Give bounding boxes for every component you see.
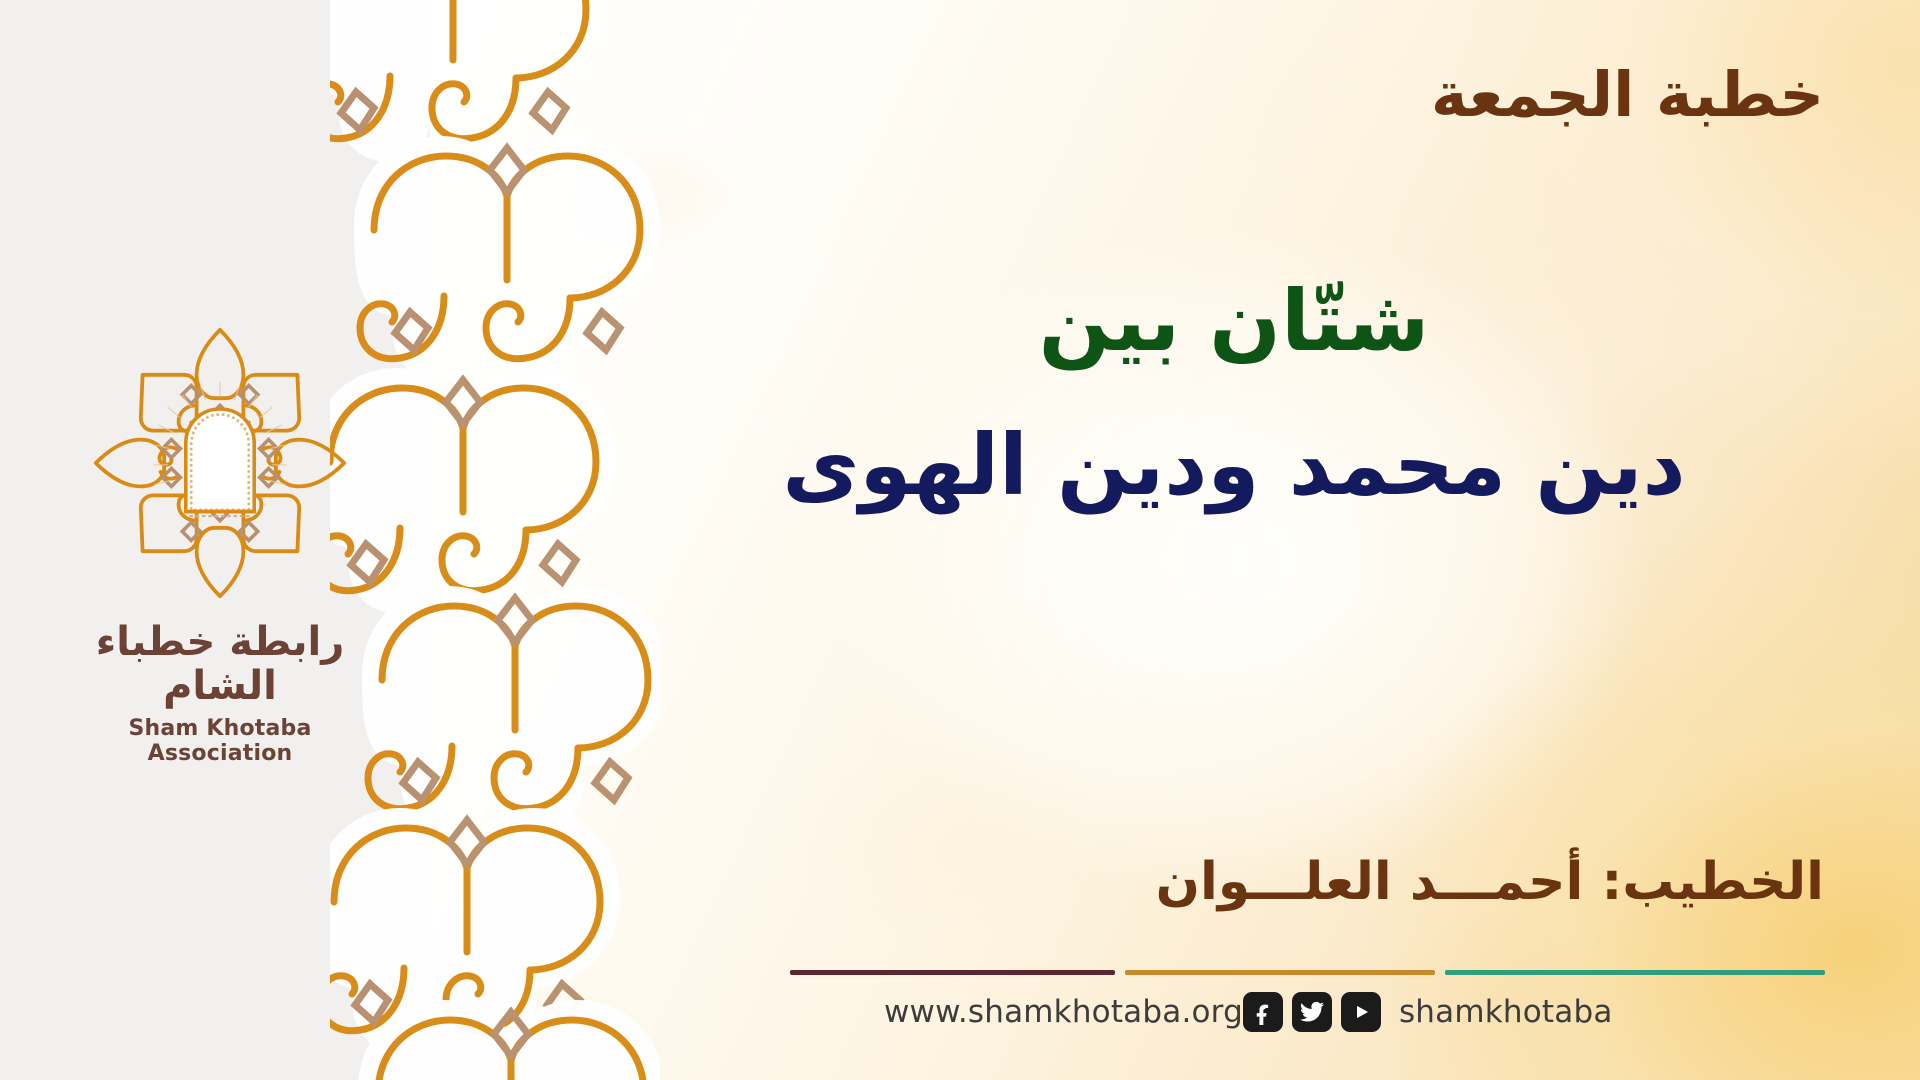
rule-gold — [1125, 970, 1435, 975]
arabesque-mihrab-star-icon — [85, 318, 355, 608]
rule-teal — [1445, 970, 1825, 975]
footer: www.shamkhotaba.org shamkhotaba — [790, 970, 1920, 1080]
page-title: شتّان بين دين محمد ودين الهوى — [644, 268, 1824, 519]
facebook-icon[interactable] — [1243, 992, 1283, 1032]
social-icon-group — [1243, 992, 1381, 1032]
footer-content: www.shamkhotaba.org shamkhotaba — [790, 992, 1613, 1032]
youtube-icon[interactable] — [1341, 992, 1381, 1032]
footer-rule-group — [790, 970, 1825, 975]
speaker-label: الخطيب: أحمـــد العلـــوان — [1156, 852, 1824, 912]
social-handle[interactable]: shamkhotaba — [1399, 994, 1613, 1030]
website-link[interactable]: www.shamkhotaba.org — [884, 994, 1243, 1030]
logo-block: رابطة خطباء الشام Sham Khotaba Associati… — [55, 318, 385, 766]
kicker-label: خطبة الجمعة — [1431, 58, 1824, 131]
khutbah-poster: رابطة خطباء الشام Sham Khotaba Associati… — [0, 0, 1920, 1080]
rule-maroon — [790, 970, 1115, 975]
title-line-1: شتّان بين — [644, 268, 1824, 376]
logo-name-arabic: رابطة خطباء الشام — [55, 620, 385, 708]
title-line-2: دين محمد ودين الهوى — [644, 412, 1824, 520]
twitter-icon[interactable] — [1292, 992, 1332, 1032]
logo-name-english: Sham Khotaba Association — [55, 716, 385, 766]
